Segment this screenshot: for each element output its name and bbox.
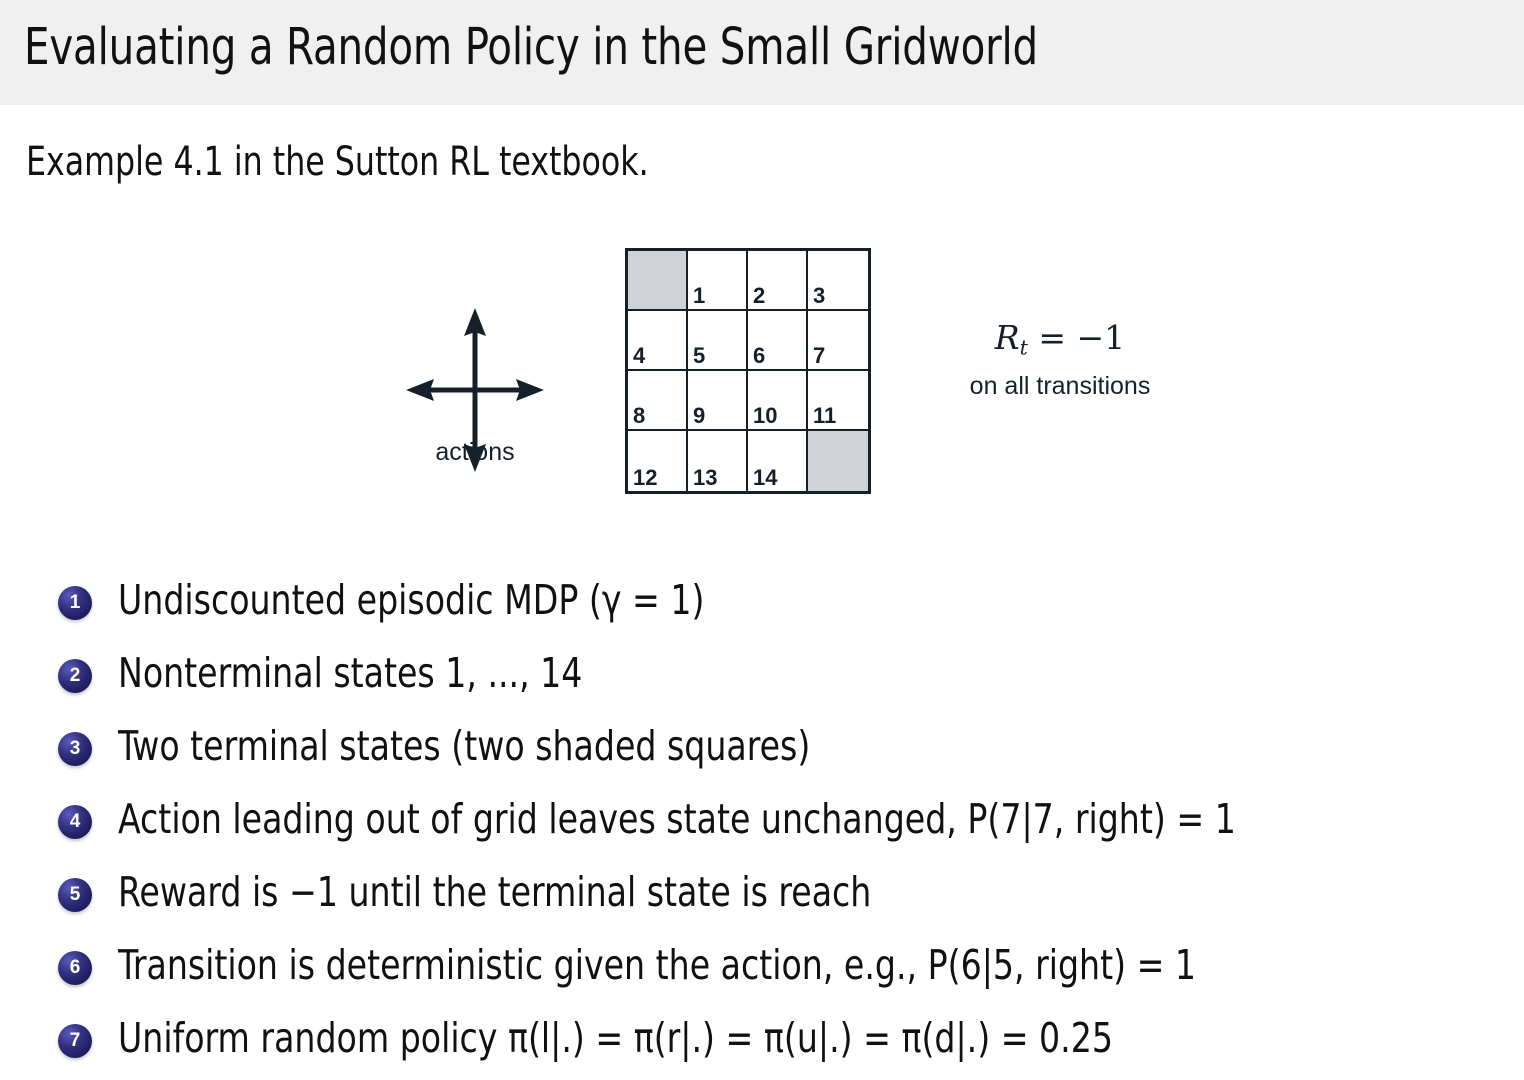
list-item-text: Action leading out of grid leaves state … bbox=[118, 787, 1236, 851]
grid-cell-label: 8 bbox=[633, 405, 645, 427]
list-item: 4 Action leading out of grid leaves stat… bbox=[0, 787, 1524, 860]
list-item-text: Nonterminal states 1, ..., 14 bbox=[118, 641, 582, 705]
grid-cell-6: 6 bbox=[748, 311, 808, 371]
actions-label: actions bbox=[390, 438, 560, 467]
grid-cell-label: 7 bbox=[813, 345, 825, 367]
grid-cell-label: 9 bbox=[693, 405, 705, 427]
reward-value: −1 bbox=[1077, 318, 1126, 357]
grid-cell-1: 1 bbox=[688, 251, 748, 311]
list-item: 1 Undiscounted episodic MDP (γ = 1) bbox=[0, 568, 1524, 641]
list-item: 3 Two terminal states (two shaded square… bbox=[0, 714, 1524, 787]
slide-subtitle: Example 4.1 in the Sutton RL textbook. bbox=[26, 136, 649, 188]
grid-cell-label: 10 bbox=[753, 405, 777, 427]
grid-row: 8 9 10 11 bbox=[628, 371, 868, 431]
reward-equals: = bbox=[1038, 318, 1066, 357]
grid-cell-label: 3 bbox=[813, 285, 825, 307]
list-item-number-badge: 7 bbox=[58, 1024, 92, 1058]
list-item: 5 Reward is −1 until the terminal state … bbox=[0, 860, 1524, 933]
grid-cell-3: 3 bbox=[808, 251, 868, 311]
list-item-number-badge: 1 bbox=[58, 586, 92, 620]
grid-cell-5: 5 bbox=[688, 311, 748, 371]
list-item-number-badge: 5 bbox=[58, 878, 92, 912]
grid-cell-2: 2 bbox=[748, 251, 808, 311]
grid-cell-7: 7 bbox=[808, 311, 868, 371]
grid-row: 12 13 14 bbox=[628, 431, 868, 491]
grid-cell-12: 12 bbox=[628, 431, 688, 491]
grid-cell-11: 11 bbox=[808, 371, 868, 431]
list-item: 7 Uniform random policy π(l|.) = π(r|.) … bbox=[0, 1006, 1524, 1079]
list-item-number-badge: 4 bbox=[58, 805, 92, 839]
grid-cell-label: 4 bbox=[633, 345, 645, 367]
grid-cell-8: 8 bbox=[628, 371, 688, 431]
reward-annotation: Rt = −1 on all transitions bbox=[905, 318, 1215, 401]
grid-cell-label: 6 bbox=[753, 345, 765, 367]
list-item-number-badge: 2 bbox=[58, 659, 92, 693]
grid-cell-label: 11 bbox=[813, 405, 836, 427]
grid-cell-13: 13 bbox=[688, 431, 748, 491]
list-item-text: Transition is deterministic given the ac… bbox=[118, 933, 1196, 997]
list-item-text: Two terminal states (two shaded squares) bbox=[118, 714, 810, 778]
list-item-text: Undiscounted episodic MDP (γ = 1) bbox=[118, 568, 704, 632]
grid-cell-9: 9 bbox=[688, 371, 748, 431]
grid-row: 1 2 3 bbox=[628, 251, 868, 311]
slide-title-bar: Evaluating a Random Policy in the Small … bbox=[0, 0, 1524, 105]
grid-row: 4 5 6 7 bbox=[628, 311, 868, 371]
page-title: Evaluating a Random Policy in the Small … bbox=[24, 17, 1038, 79]
grid-cell-terminal-bottom-right bbox=[808, 431, 868, 491]
reward-subscript: t bbox=[1020, 336, 1028, 360]
list-item: 6 Transition is deterministic given the … bbox=[0, 933, 1524, 1006]
grid-cell-label: 1 bbox=[693, 285, 705, 307]
bullet-list: 1 Undiscounted episodic MDP (γ = 1) 2 No… bbox=[0, 568, 1524, 1079]
list-item-text: Uniform random policy π(l|.) = π(r|.) = … bbox=[118, 1006, 1113, 1070]
grid-cell-label: 14 bbox=[753, 467, 777, 489]
reward-caption: on all transitions bbox=[905, 372, 1215, 401]
reward-formula: Rt = −1 bbox=[905, 318, 1215, 368]
grid-cell-10: 10 bbox=[748, 371, 808, 431]
list-item-number-badge: 3 bbox=[58, 732, 92, 766]
list-item: 2 Nonterminal states 1, ..., 14 bbox=[0, 641, 1524, 714]
grid-cell-label: 5 bbox=[693, 345, 705, 367]
gridworld-figure: actions 1 2 3 4 5 6 7 8 9 10 11 12 13 14 bbox=[0, 230, 1524, 530]
grid-cell-label: 2 bbox=[753, 285, 765, 307]
list-item-text: Reward is −1 until the terminal state is… bbox=[118, 860, 871, 924]
grid-cell-4: 4 bbox=[628, 311, 688, 371]
grid-cell-label: 12 bbox=[633, 467, 657, 489]
grid-cell-terminal-top-left bbox=[628, 251, 688, 311]
grid-cell-label: 13 bbox=[693, 467, 717, 489]
reward-symbol: R bbox=[995, 318, 1020, 357]
gridworld-grid: 1 2 3 4 5 6 7 8 9 10 11 12 13 14 bbox=[625, 248, 871, 494]
list-item-number-badge: 6 bbox=[58, 951, 92, 985]
grid-cell-14: 14 bbox=[748, 431, 808, 491]
